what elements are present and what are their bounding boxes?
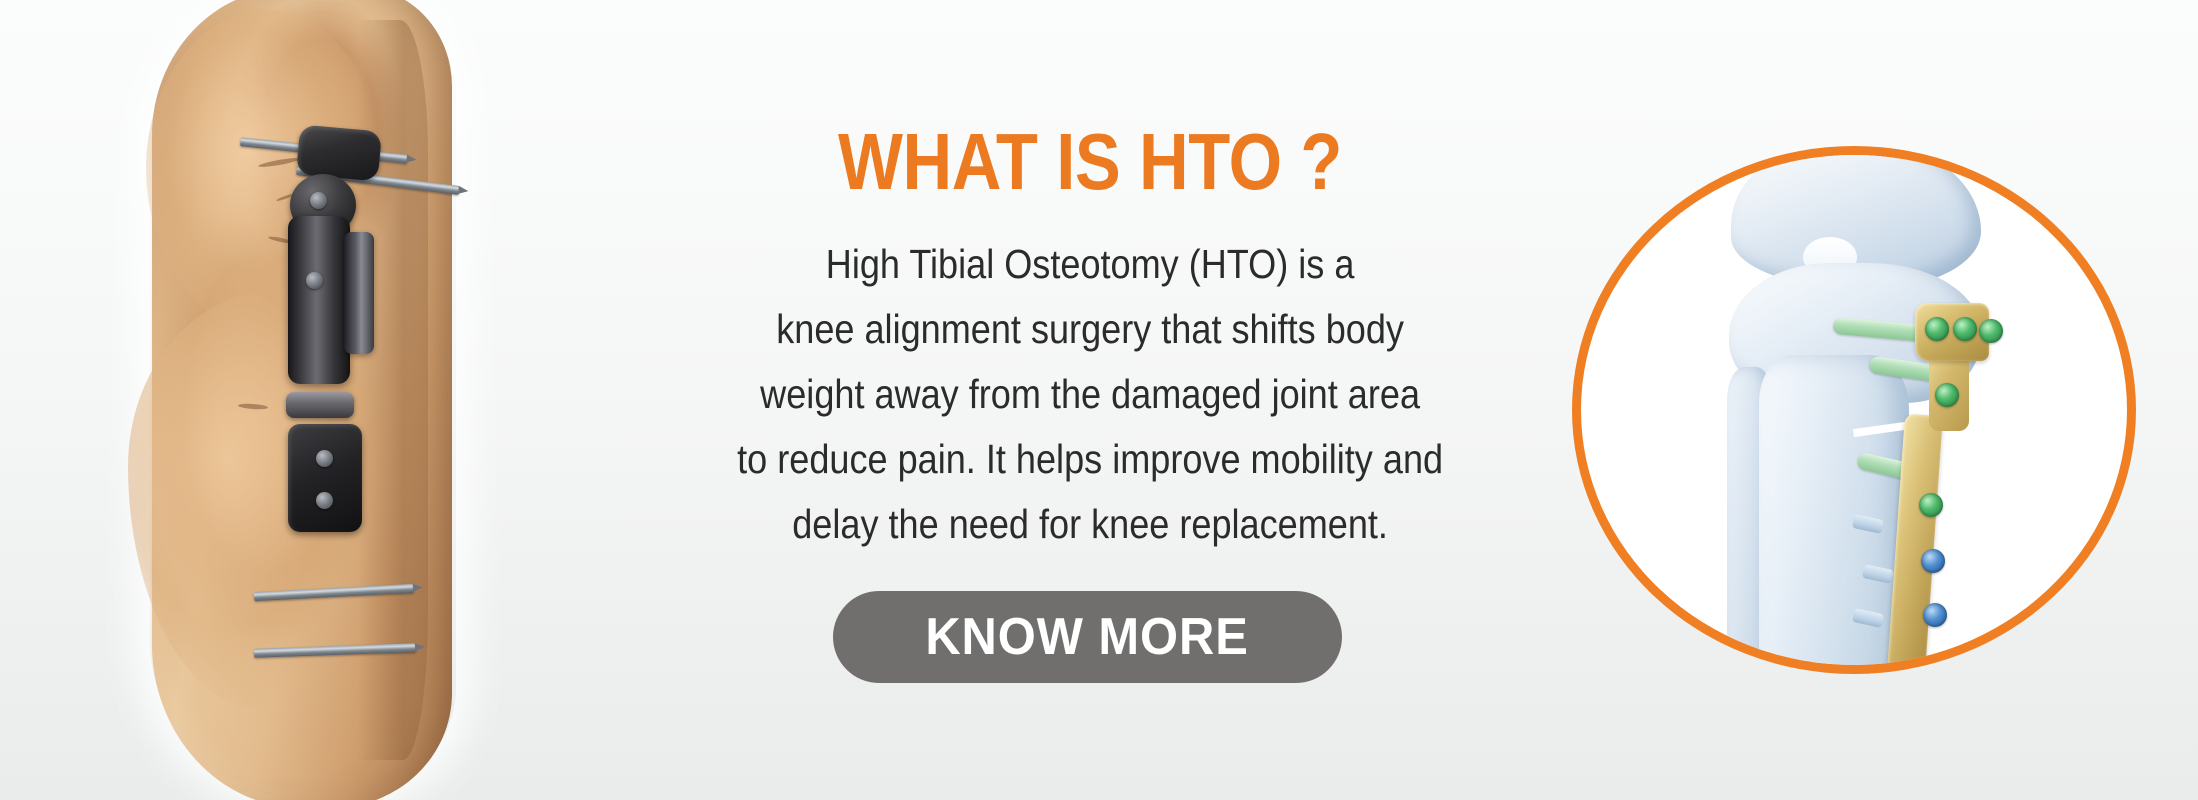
- green-locking-screw: [1919, 493, 1943, 517]
- description-line: to reduce pain. It helps improve mobilit…: [737, 427, 1443, 492]
- tibial-bone-plate: [1897, 303, 1989, 674]
- fixator-pin: [254, 643, 416, 658]
- fixator-bolt: [306, 272, 323, 289]
- green-locking-screw: [1935, 383, 1959, 407]
- green-locking-screw: [1925, 317, 1949, 341]
- photo-stage: [0, 0, 620, 800]
- bone-illustration: [1581, 155, 2127, 665]
- fixator-side-tube: [344, 232, 374, 354]
- orange-circle-frame: [1572, 146, 2136, 674]
- fixator-pin: [254, 584, 414, 601]
- green-locking-screw: [1979, 319, 2003, 343]
- fixator-bolt: [310, 192, 327, 209]
- know-more-button-label: KNOW MORE: [925, 607, 1248, 667]
- tibia-shaft: [1759, 355, 1909, 674]
- cta-container: KNOW MORE: [833, 591, 1342, 683]
- fixator-body-tube: [288, 216, 350, 384]
- fixator-bottom-clamp: [288, 424, 362, 532]
- fixator-bolt: [316, 492, 333, 509]
- blue-cortical-screw: [1923, 603, 1947, 627]
- fixator-collar: [286, 392, 354, 418]
- description-line: delay the need for knee replacement.: [737, 492, 1443, 557]
- fixator-bolt: [316, 450, 333, 467]
- blue-cortical-screw: [1925, 659, 1949, 674]
- description-line: weight away from the damaged joint area: [737, 362, 1443, 427]
- leg-fixator-photo: [0, 0, 620, 800]
- page-title: WHAT IS HTO ?: [838, 118, 1342, 206]
- green-locking-screw: [1953, 317, 1977, 341]
- external-fixator-device: [0, 0, 620, 800]
- know-more-button[interactable]: KNOW MORE: [833, 591, 1342, 683]
- hto-banner: WHAT IS HTO ? High Tibial Osteotomy (HTO…: [0, 0, 2198, 800]
- description-line: High Tibial Osteotomy (HTO) is a: [737, 232, 1443, 297]
- knee-plate-illustration: [1572, 146, 2136, 674]
- blue-cortical-screw: [1921, 549, 1945, 573]
- description-line: knee alignment surgery that shifts body: [737, 297, 1443, 362]
- fixator-top-clamp: [296, 125, 382, 182]
- banner-description: High Tibial Osteotomy (HTO) is a knee al…: [737, 232, 1443, 557]
- banner-text-column: WHAT IS HTO ? High Tibial Osteotomy (HTO…: [620, 0, 1560, 800]
